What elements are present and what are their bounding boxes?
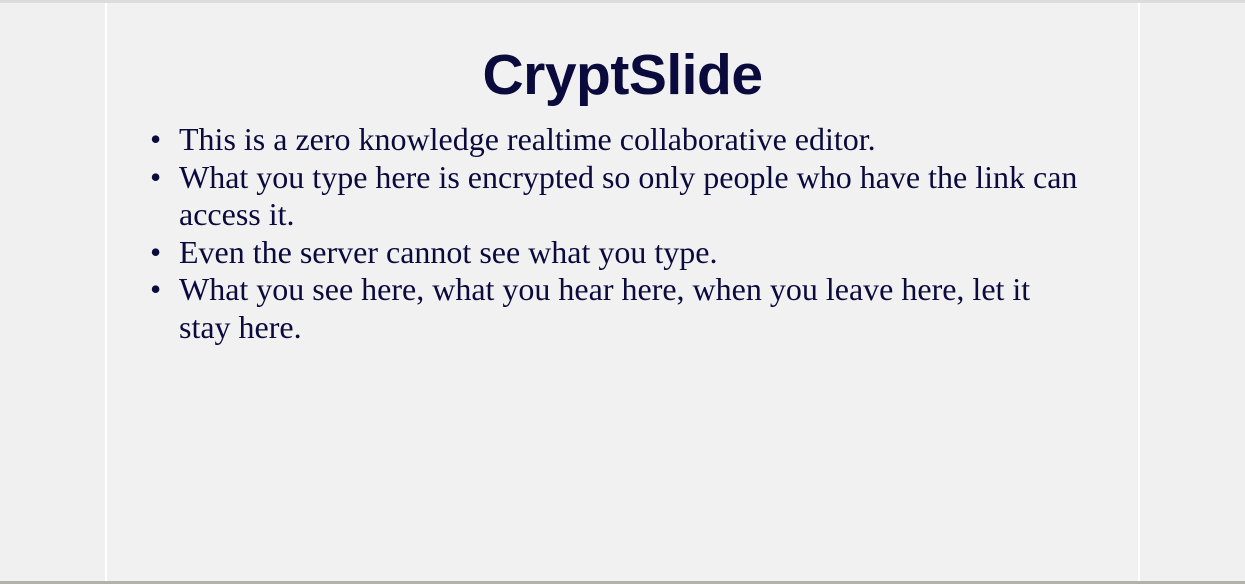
right-gutter — [1140, 3, 1245, 581]
slide-bullet-item: • What you see here, what you hear here,… — [107, 271, 1138, 346]
slide-title: CryptSlide — [107, 3, 1138, 104]
slide-bullet-item: • What you type here is encrypted so onl… — [107, 159, 1138, 234]
bullet-dot-icon: • — [150, 121, 162, 159]
bullet-dot-icon: • — [150, 271, 162, 309]
slide-bullet-text: What you type here is encrypted so only … — [179, 159, 1083, 234]
slide-panel[interactable]: CryptSlide • This is a zero knowledge re… — [105, 3, 1140, 581]
slide-bullet-item: • Even the server cannot see what you ty… — [107, 234, 1138, 272]
slide-bullet-item: • This is a zero knowledge realtime coll… — [107, 121, 1138, 159]
slide-bullet-text: Even the server cannot see what you type… — [179, 234, 1083, 272]
left-gutter — [0, 3, 105, 581]
bullet-dot-icon: • — [150, 234, 162, 272]
slide-viewer: CryptSlide • This is a zero knowledge re… — [0, 0, 1245, 584]
bullet-dot-icon: • — [150, 159, 162, 197]
slide-bullet-text: This is a zero knowledge realtime collab… — [179, 121, 1083, 159]
slide-bullet-list: • This is a zero knowledge realtime coll… — [107, 121, 1138, 347]
slide-bullet-text: What you see here, what you hear here, w… — [179, 271, 1083, 346]
